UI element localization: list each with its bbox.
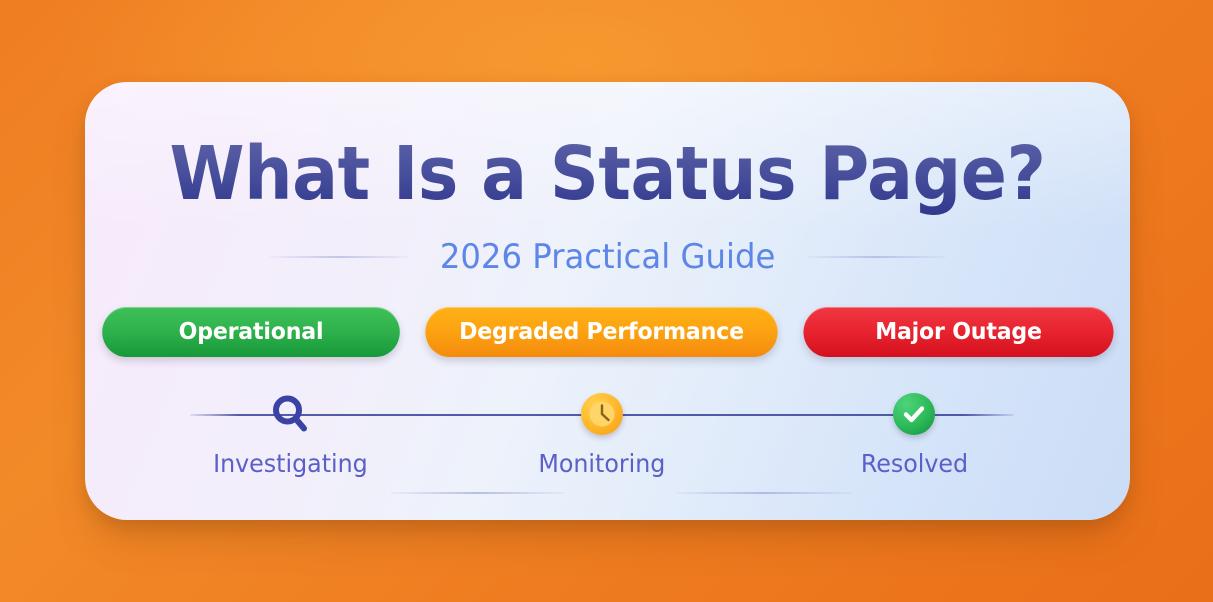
- timeline-step-investigating-label: Investigating: [213, 451, 368, 476]
- subtitle-rule-right: [806, 256, 946, 258]
- status-pill-operational-label: Operational: [178, 319, 323, 345]
- incident-timeline: Investigating Monitoring: [190, 400, 1014, 500]
- status-pill-major-outage[interactable]: Major Outage: [803, 307, 1113, 357]
- timeline-label-rule-2: [677, 492, 852, 494]
- timeline-steps: Investigating Monitoring: [190, 400, 1014, 476]
- timeline-step-resolved-label: Resolved: [860, 451, 967, 476]
- status-pill-major-outage-label: Major Outage: [875, 319, 1042, 345]
- page-subtitle: 2026 Practical Guide: [440, 240, 775, 274]
- clock-icon: [579, 391, 625, 437]
- poster-canvas: What Is a Status Page? 2026 Practical Gu…: [0, 0, 1213, 602]
- timeline-label-rule-1: [390, 492, 565, 494]
- status-pill-degraded-performance-label: Degraded Performance: [459, 319, 744, 345]
- timeline-step-monitoring-label: Monitoring: [538, 451, 665, 476]
- check-circle-icon-circle: [893, 393, 935, 435]
- status-pill-degraded-performance[interactable]: Degraded Performance: [425, 307, 777, 357]
- status-page-card: What Is a Status Page? 2026 Practical Gu…: [85, 82, 1130, 520]
- subtitle-row: 2026 Practical Guide: [85, 234, 1130, 280]
- clock-icon-circle: [581, 393, 623, 435]
- check-circle-icon: [891, 391, 937, 437]
- magnifying-glass-icon: [267, 391, 313, 437]
- timeline-step-resolved[interactable]: Resolved: [814, 400, 1014, 476]
- page-title: What Is a Status Page?: [127, 137, 1088, 211]
- timeline-step-monitoring[interactable]: Monitoring: [502, 400, 702, 476]
- status-pill-operational[interactable]: Operational: [102, 307, 400, 357]
- timeline-step-investigating[interactable]: Investigating: [190, 400, 390, 476]
- subtitle-rule-left: [269, 256, 409, 258]
- status-pill-group: Operational Degraded Performance Major O…: [85, 306, 1130, 358]
